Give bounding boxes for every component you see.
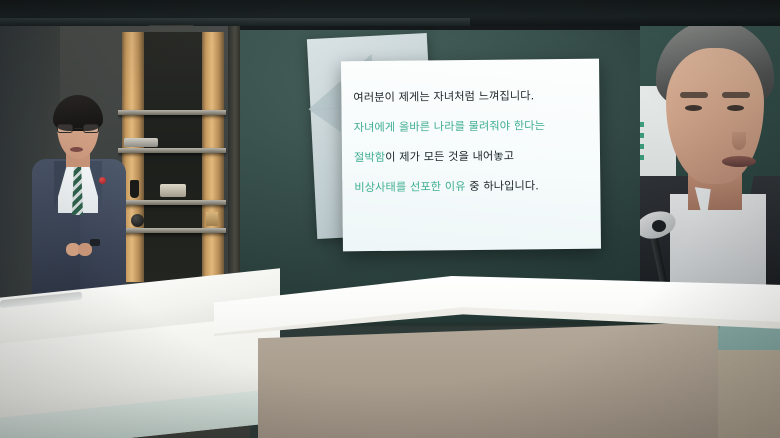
portrait-eyebrow-right [722,92,750,98]
shelf-plank [118,110,226,115]
main-desk-front-panel [258,322,718,438]
letter-line-1: 여러분이 제게는 자녀처럼 느껴집니다. [353,81,591,113]
anchor-lapel-pin [99,177,106,184]
shelf-backing [144,32,202,282]
anchor-lens-left [57,124,73,133]
letter-line-3-green: 절박함 [354,151,385,164]
letter-line-4-dark: 중 하나입니다. [466,179,539,193]
letter-line-4-green: 비상사태를 선포한 이유 [354,180,465,194]
broadcast-screen: 여러분이 제게는 자녀처럼 느껴집니다. 자녀에게 올바른 나라를 물려줘야 한… [0,0,780,438]
news-anchor [28,95,128,295]
portrait-face [666,48,764,184]
shelf-object-figure [130,180,139,198]
speaker-portrait-panel [640,26,780,296]
anchor-lapel-left [54,161,68,211]
anchor-wristwatch [90,239,100,246]
shelf-light-column-right [202,32,224,282]
studio-shelf-unit [118,32,230,282]
portrait-microphone-grille [652,220,666,232]
shelf-object-book [160,184,186,197]
letter-line-3-dark: 이 제가 모든 것을 내어놓고 [385,150,514,164]
shelf-object-box [124,138,158,147]
letter-line-2: 자녀에게 올바른 나라를 물려줘야 한다는 [354,111,592,143]
anchor-lens-right [83,124,99,133]
anchor-lapel-right [88,161,102,211]
shelf-object-gold [206,212,218,226]
portrait-eye-right [727,105,744,111]
shelf-plank [118,148,226,153]
portrait-eye-left [685,105,702,111]
handwritten-letter-card: 여러분이 제게는 자녀처럼 느껴집니다. 자녀에게 올바른 나라를 물려줘야 한… [341,59,601,252]
portrait-mouth [722,156,756,167]
glasses-icon [57,124,99,133]
anchor-glasses-bridge [74,128,82,129]
portrait-background-marking [640,122,644,166]
shelf-plank [118,228,226,233]
shelf-object-sphere [131,214,144,227]
portrait-nose [732,132,746,150]
portrait-eyebrow-left [680,92,708,98]
letter-line-3: 절박함이 제가 모든 것을 내어놓고 [354,141,592,173]
shelf-plank [118,200,226,205]
anchor-mouth [70,147,83,152]
letter-line-4: 비상사태를 선포한 이유 중 하나입니다. [354,171,592,203]
